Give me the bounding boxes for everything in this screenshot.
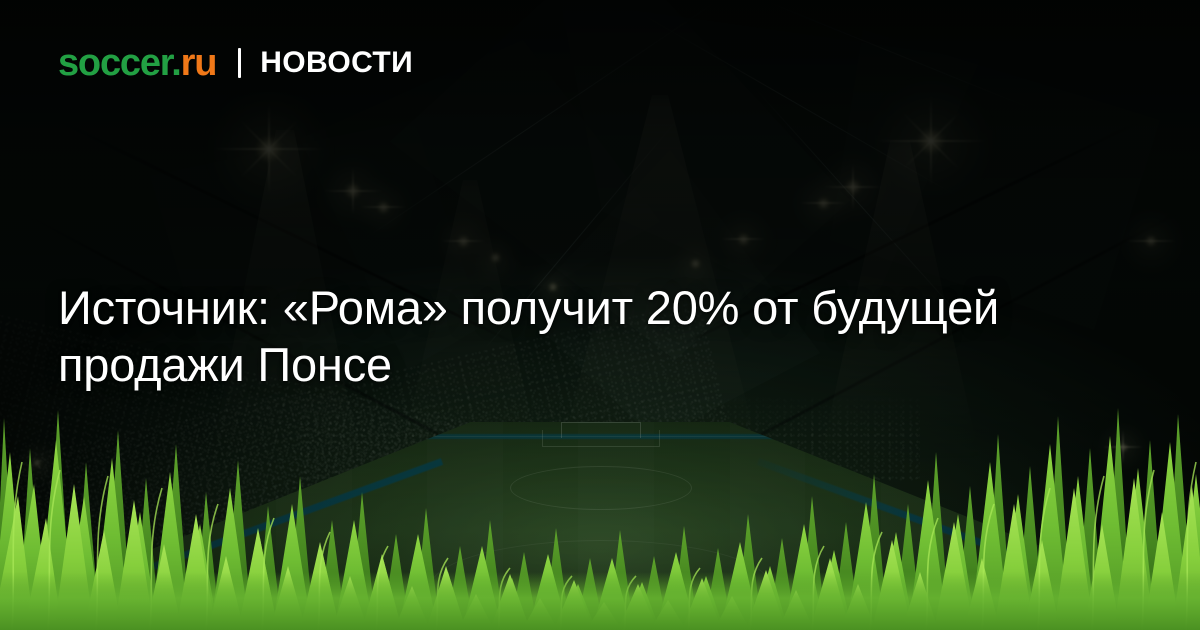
football-pitch — [0, 400, 1200, 630]
floodlight — [1150, 240, 1152, 242]
floodlight — [382, 206, 384, 208]
site-header: soccer.ru НОВОСТИ — [58, 44, 413, 82]
floodlight — [268, 148, 270, 150]
header-divider — [238, 48, 241, 78]
floodlight — [494, 256, 496, 258]
section-label: НОВОСТИ — [260, 48, 413, 78]
floodlight — [462, 240, 464, 242]
logo-primary-text: soccer. — [58, 42, 181, 84]
floodlight — [742, 238, 744, 240]
pitch-goal-box — [542, 430, 660, 447]
floodlight — [930, 140, 932, 142]
floodlight — [694, 262, 696, 264]
page-title: Источник: «Рома» получит 20% от будущей … — [58, 279, 1068, 393]
pitch-center-circle — [510, 466, 692, 510]
news-share-card: soccer.ru НОВОСТИ Источник: «Рома» получ… — [0, 0, 1200, 630]
pitch-surface — [60, 422, 1140, 630]
soccer-ru-logo[interactable]: soccer.ru — [58, 44, 216, 82]
floodlight — [352, 190, 354, 192]
logo-suffix-text: ru — [181, 42, 217, 84]
pitch-penalty-arc — [430, 540, 772, 630]
floodlight — [822, 202, 824, 204]
floodlight — [852, 186, 854, 188]
